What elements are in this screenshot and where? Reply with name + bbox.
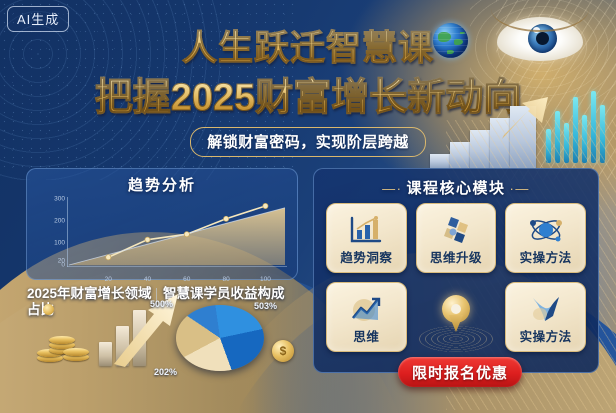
- chart-y-tick: 0: [39, 262, 65, 269]
- core-modules-title-text: 课程核心模块: [406, 180, 505, 197]
- bar-chart-icon: [327, 211, 406, 249]
- module-tile-mindset-upgrade[interactable]: 思维升级: [416, 203, 497, 273]
- trend-line-svg: [35, 195, 291, 275]
- module-tile-trend-insight[interactable]: 趋势洞察: [326, 203, 407, 273]
- chart-x-tick: 60: [183, 276, 190, 278]
- poster-canvas: AI生成 人生跃迁智慧课 把握2025财富增长新动向 解锁财富密码，实现阶层跨越: [0, 0, 616, 413]
- chart-y-tick: 200: [39, 218, 65, 225]
- title-deco-right: ·—: [506, 181, 534, 196]
- module-tile-label: 思维: [353, 326, 379, 345]
- puzzle-icon: [417, 211, 496, 249]
- teal-bars-icon: [544, 83, 610, 163]
- pin-wrap: [442, 282, 470, 346]
- page-subtitle: 解锁财富密码，实现阶层跨越: [190, 127, 426, 157]
- chart-y-tick: 300: [39, 196, 65, 203]
- student-income-label: 智慧课学员收益构成: [163, 286, 303, 302]
- trend-analysis-panel: 趋势分析 300200100200 20406080100: [26, 168, 298, 280]
- chart-x-tick: 20: [105, 276, 112, 278]
- cta-badge[interactable]: 限时报名优惠: [398, 357, 522, 387]
- pie-label-2: 202%: [154, 367, 177, 377]
- checkmark-icon: [506, 290, 585, 328]
- module-tile-grid: 趋势洞察 思维升级: [326, 203, 586, 352]
- pie-label-0: 500%: [150, 299, 173, 309]
- globe-icon: [433, 23, 468, 58]
- module-tile-label: 趋势洞察: [340, 247, 392, 266]
- location-pin-icon: [442, 295, 470, 333]
- core-modules-panel: —·课程核心模块·— 趋势洞察: [313, 168, 599, 373]
- module-tile-label: 思维升级: [430, 247, 482, 266]
- module-tile-label: 实操方法: [520, 326, 572, 345]
- module-tile-practical-method[interactable]: 实操方法: [505, 203, 586, 273]
- atom-icon: [506, 211, 585, 249]
- chart-x-tick: 40: [144, 276, 151, 278]
- pin-tip: [449, 315, 463, 332]
- core-modules-title: —·课程核心模块·—: [314, 177, 598, 198]
- module-tile-practical-method-2[interactable]: 实操方法: [505, 282, 586, 352]
- trend-analysis-title: 趋势分析: [27, 174, 297, 195]
- chart-x-tick: 80: [222, 276, 229, 278]
- line-growth-icon: [327, 290, 406, 328]
- pie-body: [176, 305, 264, 371]
- module-tile-location[interactable]: [416, 282, 497, 352]
- pin-hole: [451, 304, 461, 314]
- module-tile-label: 实操方法: [520, 247, 572, 266]
- dollar-coin-icon: $: [272, 340, 294, 362]
- chart-x-tick: 100: [260, 276, 271, 278]
- trend-line-chart: 300200100200 20406080100: [35, 195, 291, 275]
- gold-coins-icon: [35, 320, 95, 365]
- page-title-line1: 人生跃迁智慧课: [0, 20, 616, 71]
- pie-label-1: 503%: [254, 301, 277, 311]
- chart-y-tick: 100: [39, 240, 65, 247]
- income-pie-chart: 500% 503% 202%: [176, 305, 264, 371]
- title-deco-left: —·: [378, 181, 406, 196]
- module-tile-mindset[interactable]: 思维: [326, 282, 407, 352]
